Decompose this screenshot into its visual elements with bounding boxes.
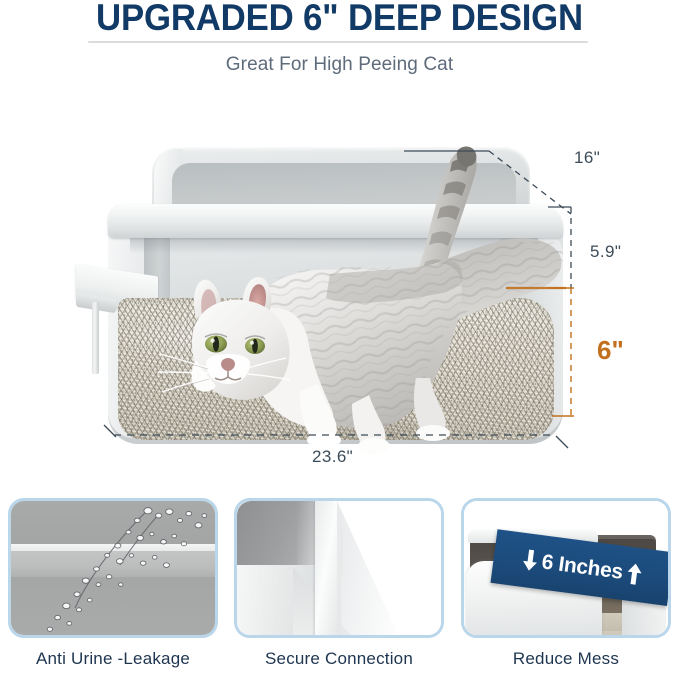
water-spray-icon	[11, 501, 215, 637]
depth-callout-text: 6 Inches	[540, 550, 624, 584]
arrow-up-icon	[625, 563, 643, 587]
page-title: UPGRADED 6" DEEP DESIGN	[20, 0, 658, 38]
dimension-label-litter-depth: 6"	[597, 335, 624, 366]
feature-image-frame	[234, 498, 444, 638]
depth-diagonal-leader	[489, 151, 571, 214]
dimension-label-width: 23.6"	[312, 447, 353, 467]
dimension-label-height: 5.9"	[590, 242, 621, 262]
feature-panels: Anti Urine -Leakage Secure Connection	[0, 498, 679, 690]
page-subtitle: Great For High Peeing Cat	[0, 53, 679, 77]
arrow-down-icon	[521, 549, 539, 573]
title-divider	[88, 41, 588, 43]
width-right-tick	[556, 436, 568, 448]
feature-card-reduce-mess[interactable]: 6 Inches Reduce Mess	[461, 498, 671, 669]
header: UPGRADED 6" DEEP DESIGN Great For High P…	[0, 0, 679, 92]
feature-image-frame: 6 Inches	[461, 498, 671, 638]
feature-caption: Reduce Mess	[461, 649, 671, 669]
feature-caption: Anti Urine -Leakage	[8, 649, 218, 669]
width-left-tick	[104, 425, 116, 437]
feature-card-secure-connection[interactable]: Secure Connection	[234, 498, 444, 669]
feature-image-frame	[8, 498, 218, 638]
dimension-label-depth: 16"	[574, 148, 600, 168]
product-hero-image: 16" 5.9" 6" 23.6"	[0, 92, 679, 492]
feature-card-anti-urine-leakage[interactable]: Anti Urine -Leakage	[8, 498, 218, 669]
feature-caption: Secure Connection	[234, 649, 444, 669]
